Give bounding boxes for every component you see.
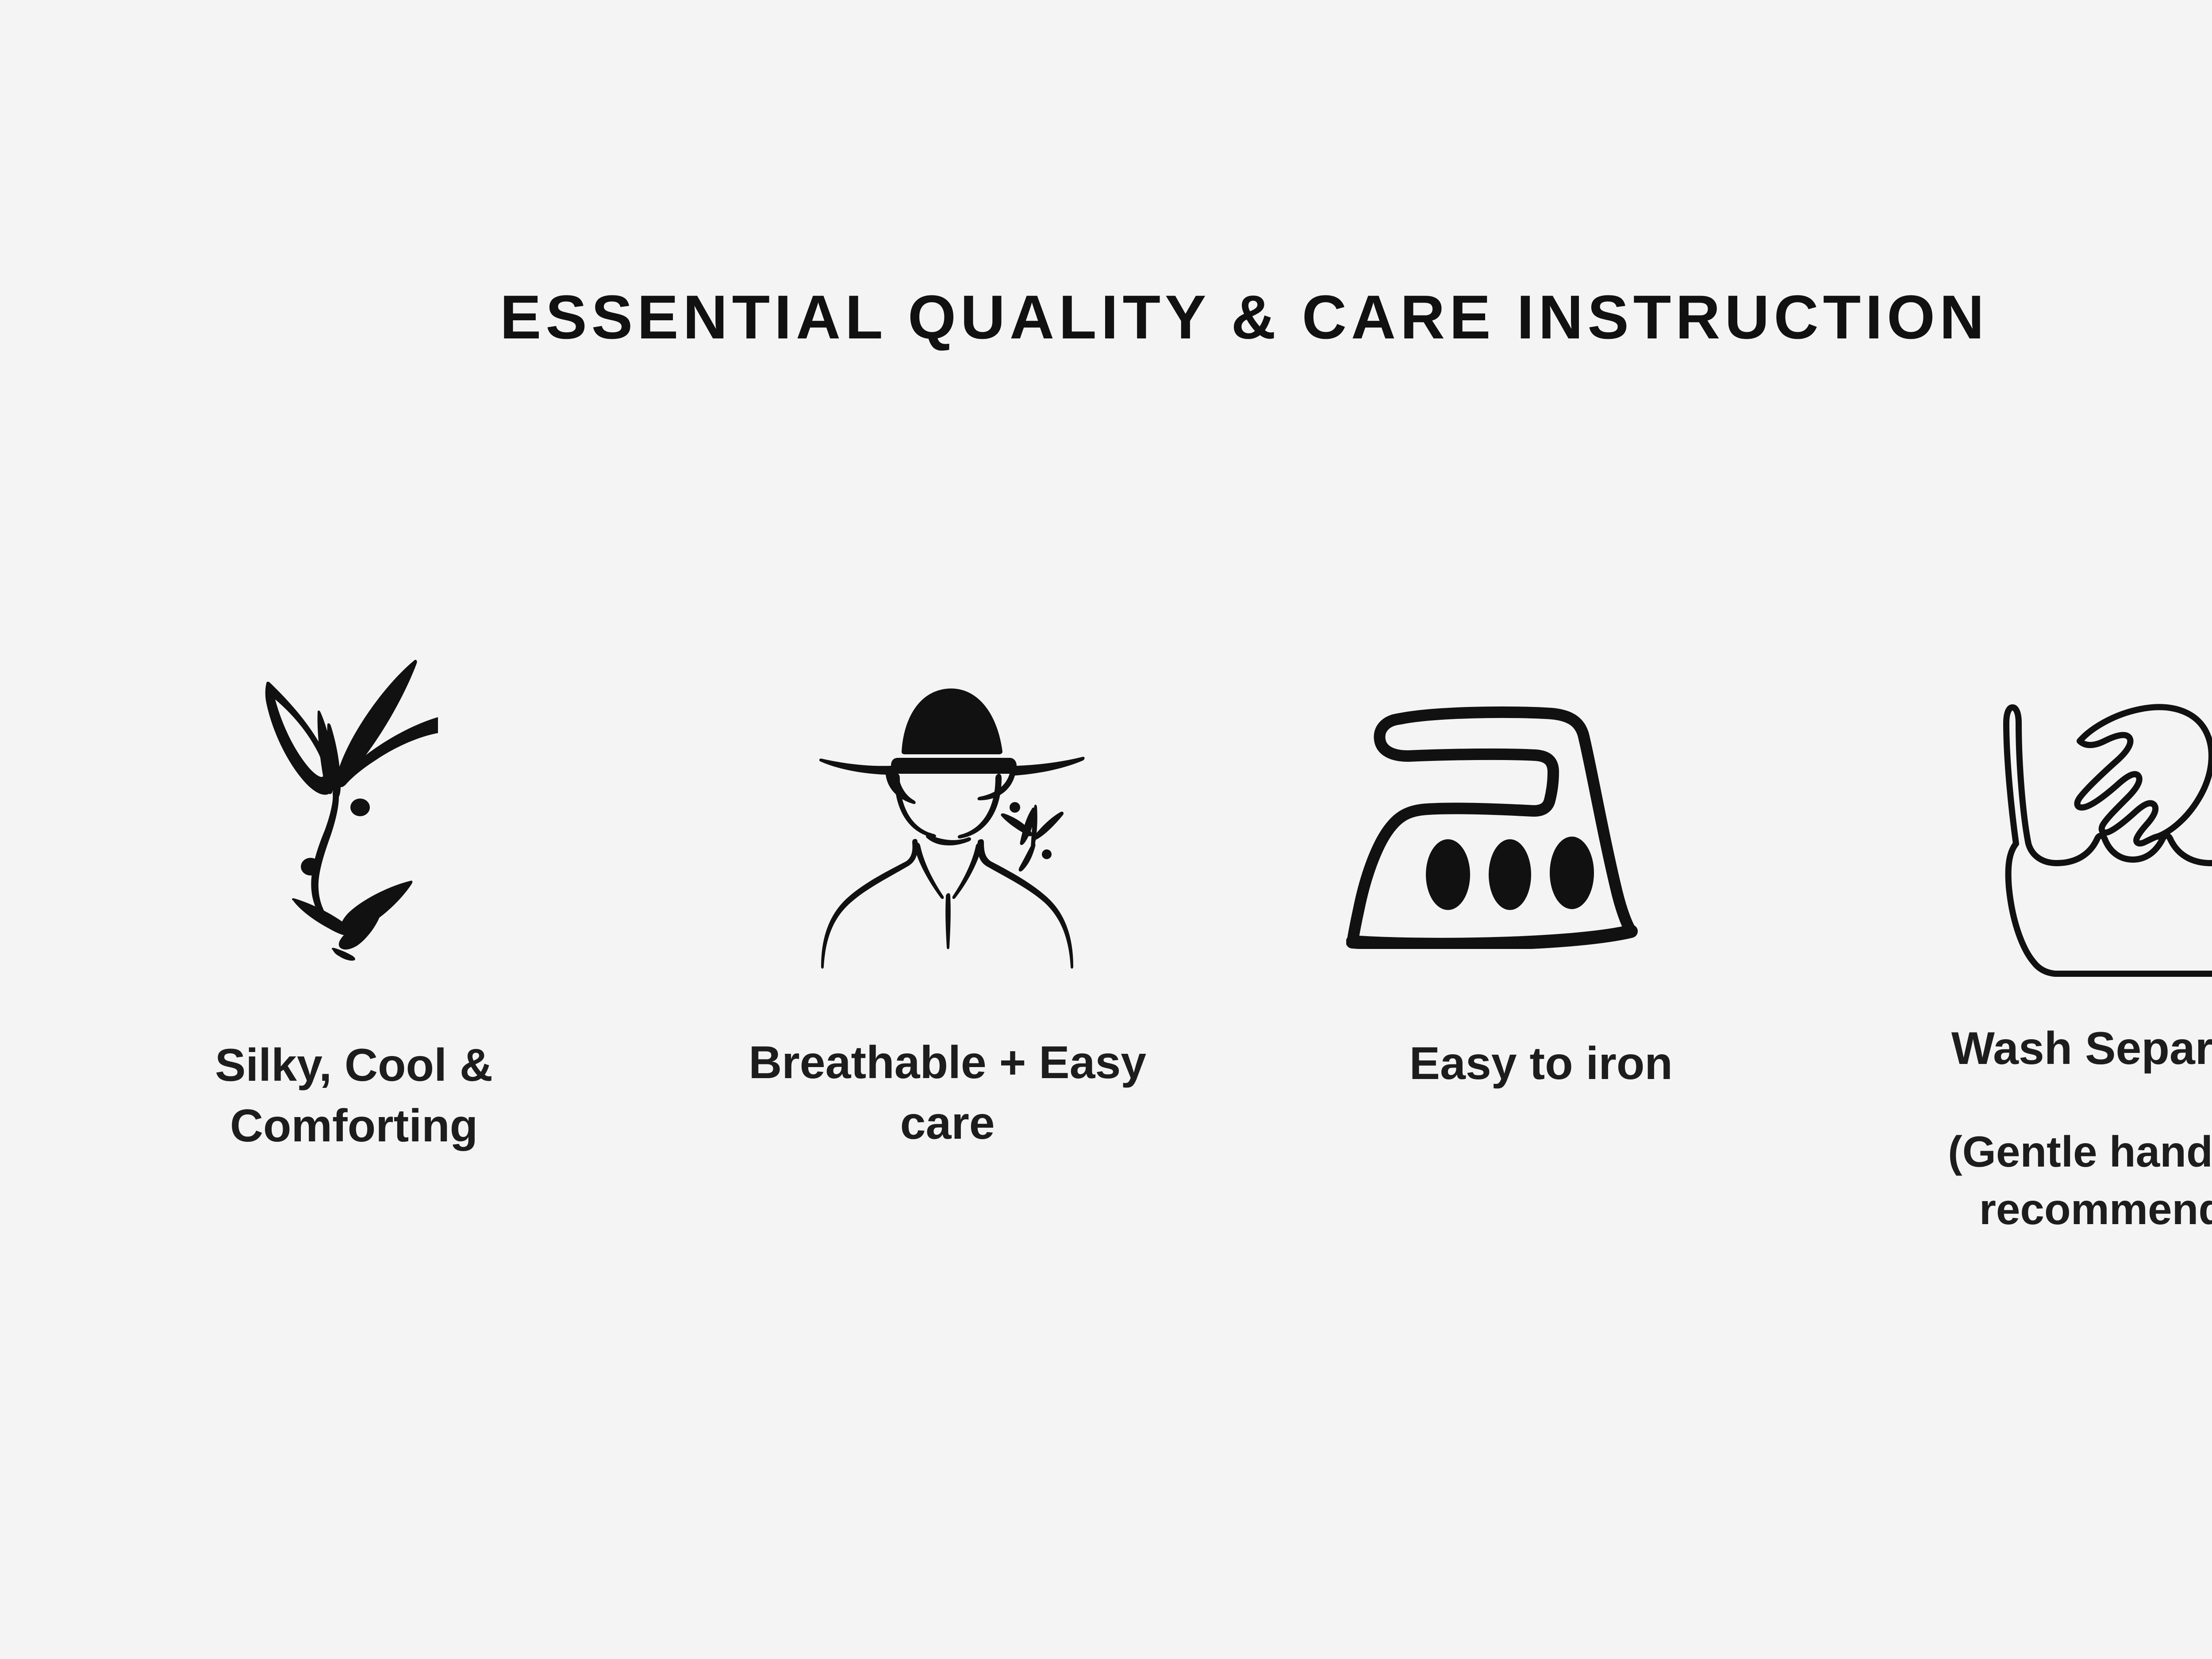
feature-label: Breathable + Easy care [704,1033,1191,1154]
feature-label: Silky, Cool & Comforting [111,1035,597,1157]
page-title-container: ESSENTIAL QUALITY & CARE INSTRUCTION [0,283,2212,351]
handwash-basin-icon [1869,641,2212,1009]
feature-item-breathable: Breathable + Easy care [682,641,1213,1154]
feature-item-iron: Easy to iron [1275,641,1806,1094]
clothes-iron-icon [1275,641,1806,1009]
page-title: ESSENTIAL QUALITY & CARE INSTRUCTION [500,283,1989,351]
feature-label: Wash Separately [1891,1018,2212,1079]
feature-sublabel: (Gentle handwash recommended) [1880,1123,2212,1238]
sprout-leaves-icon [75,641,606,1009]
feature-item-silky: Silky, Cool & Comforting [88,641,619,1157]
feature-label: Easy to iron [1298,1033,1784,1094]
farmer-with-hat-icon [682,641,1213,1009]
feature-item-wash: Wash Separately (Gentle handwash recomme… [1869,641,2212,1238]
care-instruction-panel: ESSENTIAL QUALITY & CARE INSTRUCTION [0,0,2212,1659]
feature-list: Silky, Cool & Comforting [0,641,2212,1238]
